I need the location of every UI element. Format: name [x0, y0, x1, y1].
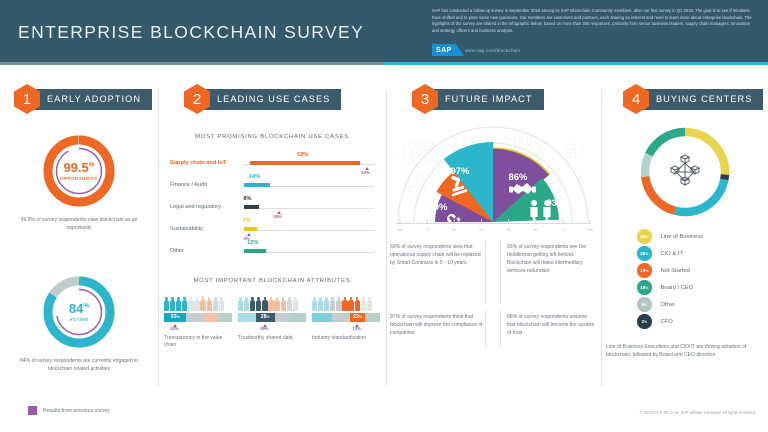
attribute-segment [365, 313, 380, 322]
legend-row: 2%CFO [637, 313, 767, 330]
usecase-row: Other12% [170, 240, 376, 262]
person-icon [361, 297, 366, 311]
previous-survey-percent: 42% [170, 326, 178, 331]
legend-row: 26%CIO & IT [637, 245, 767, 262]
usecase-track [244, 208, 374, 209]
usecase-row: Sustainability7%3% [170, 218, 376, 240]
person-icon [342, 297, 347, 311]
page-footer: Results from previous survey © 2018 SAP … [0, 394, 768, 432]
attribute-value-badge: 33% [164, 313, 186, 322]
legend-label: Board / CEO [661, 285, 694, 291]
gauge-tick-label: 100 [587, 228, 593, 232]
usecase-bar [244, 205, 259, 209]
usecase-row: Legal and regulatory8%19% [170, 196, 376, 218]
usecase-label: Supply chain and IoT [170, 160, 226, 166]
legend-row: 26%Line of Business [637, 228, 767, 245]
attribute-segment [218, 313, 232, 322]
person-icon [324, 297, 329, 311]
infographic-columns: 1 EARLY ADOPTION 99.5% OPPORTUNITY 99.5%… [0, 68, 768, 394]
attribute-segment [290, 313, 306, 322]
person-icon [256, 297, 261, 311]
gauge-tick-label: 50 [452, 228, 456, 232]
person-icon [293, 297, 298, 311]
person-icon [170, 297, 175, 311]
usecase-row: Finance / Audit14% [170, 174, 376, 196]
usecase-label: Legal and regulatory [170, 204, 221, 210]
sap-logo: SAP [432, 44, 456, 56]
person-icon [348, 297, 353, 311]
attribute-segment [312, 313, 332, 322]
person-icon [219, 297, 224, 311]
usecase-row: Supply chain and IoT59%63% [170, 152, 376, 174]
page-header: ENTERPRISE BLOCKCHAIN SURVEY SAP has con… [0, 0, 768, 62]
person-icon [318, 297, 323, 311]
previous-survey-percent: 39% [260, 326, 268, 331]
attribute-segment-bar: 28% [238, 313, 306, 322]
donut-opportunity-block: 99.5% OPPORTUNITY 99.5% of survey respon… [0, 132, 158, 233]
previous-survey-percent: 13% [353, 326, 361, 331]
person-icon [367, 297, 372, 311]
page-title: ENTERPRISE BLOCKCHAIN SURVEY [18, 22, 364, 43]
gauge-value-label: 69% [428, 202, 448, 213]
note-compliance: 97% of survey respondents think that blo… [390, 310, 486, 348]
divider-2 [386, 90, 387, 386]
attribute-previous-row: 42% [164, 322, 232, 331]
donut-active-caption: 84% of survey respondents are currently … [0, 358, 158, 374]
person-icon [274, 297, 279, 311]
person-icon [238, 297, 243, 311]
people-pictogram [238, 296, 306, 311]
person-icon [244, 297, 249, 311]
section-header-3: 3 FUTURE IMPACT [412, 86, 544, 112]
legend-row: 18%Board / CEO [637, 279, 767, 296]
attribute-segment [186, 313, 202, 322]
donut-active-value: 84% [69, 302, 89, 315]
gauge-svg: 97%86%93%69% [390, 122, 597, 234]
header-divider-rule [0, 62, 768, 65]
usecase-bar [250, 161, 360, 165]
section-title-3: FUTURE IMPACT [429, 89, 544, 110]
gauge-tick-label: 25 [479, 228, 483, 232]
note-system-of-trust: 86% of survey respondents assume that bl… [500, 310, 597, 348]
donut-opportunity-sublabel: OPPORTUNITY [60, 177, 98, 181]
person-icon [250, 297, 255, 311]
legend-label: Other [661, 302, 676, 308]
person-icon [268, 297, 273, 311]
buying-centers-ring-svg [633, 120, 737, 224]
attribute-previous-row: 39% [238, 322, 306, 331]
legend-row: 9%Other [637, 296, 767, 313]
header-description: SAP has conducted a follow up survey in … [432, 8, 754, 35]
person-icon [281, 297, 286, 311]
people-pictogram [312, 296, 380, 311]
attribute-unit: % [267, 315, 270, 319]
legend-unit: % [645, 235, 648, 239]
legend-bubble: 18% [637, 280, 652, 295]
attributes-title: MOST IMPORTANT BLOCKCHAIN ATTRIBUTES [158, 278, 386, 284]
person-icon [287, 297, 292, 311]
person-icon [194, 297, 199, 311]
attribute-block: 28%39%Trustworthy shared data [238, 296, 306, 350]
section-title-2: LEADING USE CASES [201, 89, 341, 110]
person-icon [262, 297, 267, 311]
gauge-value-label: 86% [508, 172, 528, 183]
previous-survey-swatch [28, 406, 37, 415]
legend-label: CFO [661, 319, 673, 325]
usecase-label: Sustainability [170, 226, 203, 232]
legend-bubble: 26% [637, 246, 652, 261]
section-header-2: 2 LEADING USE CASES [184, 86, 341, 112]
attribute-previous-row: 13% [312, 322, 380, 331]
person-icon [200, 297, 205, 311]
attribute-caption: Transparency in the value chain [164, 335, 232, 350]
section-title-1: EARLY ADOPTION [31, 89, 152, 110]
gauge-tick-label: 75 [425, 228, 429, 232]
legend-bubble: 26% [637, 229, 652, 244]
attribute-value-badge: 22% [350, 313, 365, 322]
usecase-percent: 12% [247, 240, 258, 246]
legend-unit: % [645, 252, 648, 256]
legend-bubble: 9% [637, 297, 652, 312]
donut-active-sublabel: ACTIVE [69, 318, 88, 322]
legend-label: CIO & IT [661, 251, 684, 257]
usecase-percent: 8% [243, 196, 251, 202]
donut-active: 84% ACTIVE [40, 273, 118, 351]
gauge-tick-label: 75 [561, 228, 565, 232]
section-title-4: BUYING CENTERS [640, 89, 763, 110]
usecase-percent: 14% [249, 174, 260, 180]
note-smart-contracts: 69% of survey respondents view that oper… [390, 240, 486, 304]
gauge-tick-label: 25 [507, 228, 511, 232]
person-icon [188, 297, 193, 311]
attribute-segment [275, 313, 290, 322]
sap-brand-row: SAP www.sap.com/blockchain [432, 44, 520, 56]
person-icon [164, 297, 169, 311]
attribute-caption: Industry standardization [312, 335, 380, 343]
attribute-value-badge: 28% [256, 313, 275, 322]
header-rule-left [0, 62, 384, 65]
attribute-segment [332, 313, 350, 322]
donut-opportunity-caption: 99.5% of survey respondents view blockch… [0, 217, 158, 233]
person-icon [330, 297, 335, 311]
buying-centers-legend: 26%Line of Business26%CIO & IT19%Not Sta… [637, 228, 767, 330]
section-buying-centers: 4 BUYING CENTERS [601, 68, 768, 394]
buying-centers-caption: Line of Business Executives and CIO/IT a… [606, 344, 766, 360]
person-icon [336, 297, 341, 311]
usecases-title: MOST PROMISING BLOCKCHAIN USE CASES [158, 134, 386, 140]
person-icon [207, 297, 212, 311]
gauge-tick-label: 50 [534, 228, 538, 232]
attribute-caption: Trustworthy shared data [238, 335, 306, 343]
person-icon [213, 297, 218, 311]
usecase-bar [244, 249, 266, 253]
legend-bubble: 19% [637, 263, 652, 278]
donut-opportunity-center: 99.5% OPPORTUNITY [40, 132, 118, 210]
usecase-bar [244, 227, 257, 231]
attribute-unit: % [359, 315, 362, 319]
section-early-adoption: 1 EARLY ADOPTION 99.5% OPPORTUNITY 99.5%… [0, 68, 158, 394]
usecase-bar [244, 183, 270, 187]
person-icon [176, 297, 181, 311]
legend-unit: % [645, 286, 648, 290]
future-impact-gauge: 97%86%93%69% [390, 122, 597, 234]
legend-unit: % [644, 320, 647, 324]
note-middleman: 93% of survey respondents see the middle… [500, 240, 597, 304]
donut-active-block: 84% ACTIVE 84% of survey respondents are… [0, 273, 158, 374]
previous-survey-legend: Results from previous survey [28, 406, 110, 415]
attribute-block: 33%42%Transparency in the value chain [164, 296, 232, 350]
legend-label: Not Started [661, 268, 690, 274]
legend-unit: % [644, 303, 647, 307]
legend-bubble: 2% [637, 314, 652, 329]
copyright-text: © 2018 SAP SE or an SAP affiliate compan… [640, 410, 756, 415]
attribute-unit: % [177, 315, 180, 319]
header-rule-right [384, 62, 768, 65]
legend-label: Line of Business [661, 234, 704, 240]
section-header-1: 1 EARLY ADOPTION [14, 86, 152, 112]
section-future-impact: 3 FUTURE IMPACT 97%86%93%69% [386, 68, 601, 394]
usecase-label: Other [170, 248, 184, 254]
attribute-segment [238, 313, 256, 322]
buying-centers-ring-block [601, 120, 768, 229]
person-icon [355, 297, 360, 311]
section-header-4: 4 BUYING CENTERS [623, 86, 763, 112]
donut-opportunity-value: 99.5% [63, 161, 94, 174]
usecase-label: Finance / Audit [170, 182, 207, 188]
usecase-percent: 59% [297, 152, 308, 158]
section-leading-use-cases: 2 LEADING USE CASES MOST PROMISING BLOCK… [158, 68, 386, 394]
donut-opportunity: 99.5% OPPORTUNITY [40, 132, 118, 210]
attribute-segment-bar: 33% [164, 313, 232, 322]
sap-url-link[interactable]: www.sap.com/blockchain [465, 48, 521, 53]
usecase-percent: 7% [243, 218, 251, 224]
gauge-value-label: 97% [450, 166, 470, 177]
donut-active-center: 84% ACTIVE [40, 273, 118, 351]
attributes-chart: 33%42%Transparency in the value chain28%… [164, 296, 380, 350]
usecase-track [244, 230, 374, 231]
person-icon [312, 297, 317, 311]
legend-unit: % [645, 269, 648, 273]
usecases-chart: Supply chain and IoT59%63%Finance / Audi… [170, 152, 376, 262]
legend-row: 19%Not Started [637, 262, 767, 279]
gauge-tick-label: 100 [397, 228, 403, 232]
blockchain-nodes-icon [671, 155, 699, 185]
attribute-segment [203, 313, 219, 322]
attribute-block: 22%13%Industry standardization [312, 296, 380, 350]
person-icon [182, 297, 187, 311]
previous-survey-label: Results from previous survey [43, 408, 110, 414]
people-pictogram [164, 296, 232, 311]
attribute-segment-bar: 22% [312, 313, 380, 322]
